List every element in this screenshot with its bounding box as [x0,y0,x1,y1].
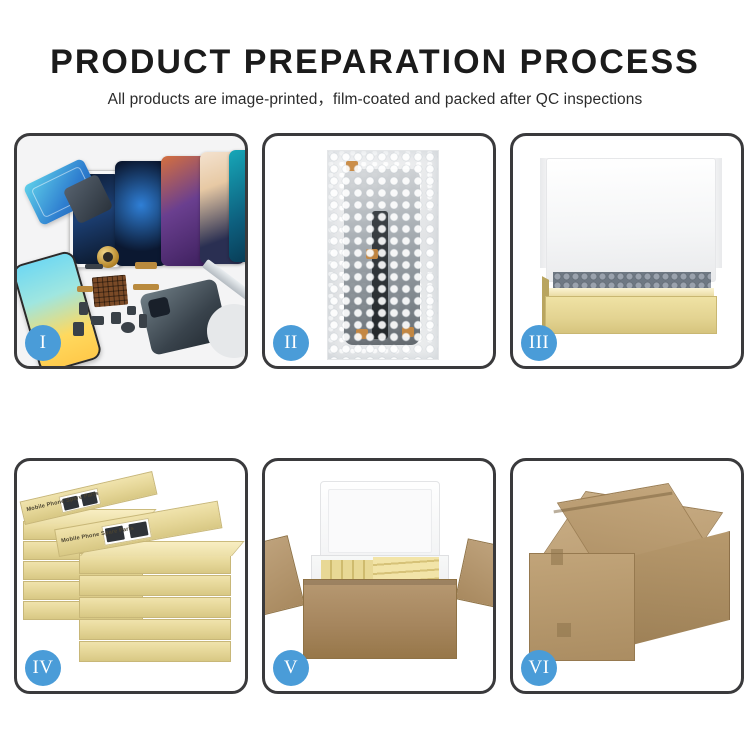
step-badge-5: V [273,650,309,686]
process-step-grid: I II [14,133,736,678]
carton-front-face [529,553,635,661]
phone-icon [229,150,245,262]
step-badge-1: I [25,325,61,361]
process-step-5: V [262,458,496,694]
step-badge-3: III [521,325,557,361]
component-icon [79,302,88,315]
box-label-lines [105,478,135,504]
carton-flap-right [455,538,493,609]
stacked-box [79,641,231,662]
component-icon [111,312,121,324]
process-step-3: III [510,133,744,369]
carton-tape [557,623,571,637]
stacked-box [79,575,231,596]
component-icon [139,314,147,328]
carton-tape [551,549,563,565]
bubble-wrap-bag [327,150,439,360]
bubble-texture [328,151,438,359]
stacked-box [79,619,231,640]
stacked-box [79,597,231,618]
carton-flap-left [265,535,305,616]
process-step-4: Mobile Phone Spare Parts Mobile Phone Sp… [14,458,248,694]
component-icon [85,264,103,269]
page-subtitle: All products are image-printed，film-coat… [0,90,750,110]
step-badge-6: VI [521,650,557,686]
foam-lid [546,158,716,282]
header: PRODUCT PREPARATION PROCESS All products… [0,0,750,110]
component-icon [127,306,136,315]
process-step-6: VI [510,458,744,694]
kraft-box-front [545,296,717,334]
flex-cable-icon [77,286,93,292]
component-icon [121,322,135,333]
process-step-1: I [14,133,248,369]
box-label-lines [157,509,187,534]
chip-grid-icon [92,275,128,308]
stacked-box [79,553,231,574]
step-badge-2: II [273,325,309,361]
flex-cable-icon [135,262,157,269]
page-title: PRODUCT PREPARATION PROCESS [0,42,750,82]
product-preparation-infographic: PRODUCT PREPARATION PROCESS All products… [0,0,750,750]
box-stack: Mobile Phone Spare Parts Mobile Phone Sp… [23,479,239,675]
carton-body [303,579,457,659]
component-icon [91,316,104,325]
foam-lid-open [320,481,440,561]
phone-icon [115,161,167,266]
process-step-2: II [262,133,496,369]
flex-cable-icon [133,284,159,290]
component-icon [73,322,84,336]
step-badge-4: IV [25,650,61,686]
